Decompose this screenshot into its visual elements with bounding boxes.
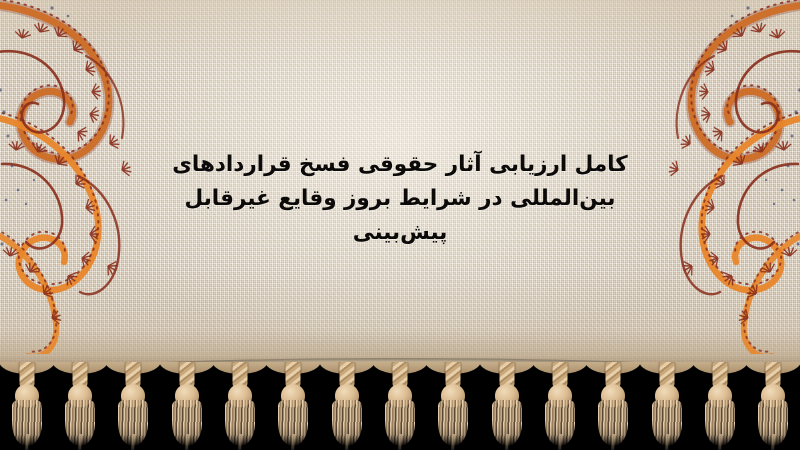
tassel-wisp <box>238 434 242 450</box>
title-line-3: پیش‌بینی <box>0 216 800 250</box>
title-line-2: بین‌المللی در شرایط بروز وقایع غیرقابل <box>0 182 800 216</box>
fringe-tassel <box>271 362 315 448</box>
fringe-tassel <box>325 362 369 448</box>
fringe-tassel <box>58 362 102 448</box>
tassel-wisp <box>664 434 668 450</box>
tassel-fringe <box>0 362 800 450</box>
fringe-tassel <box>485 362 529 448</box>
fringe-tassel <box>165 362 209 448</box>
tassel-wisp <box>184 434 188 450</box>
fringe-tassel <box>431 362 475 448</box>
fringe-tassel <box>538 362 582 448</box>
fringe-tassel <box>698 362 742 448</box>
tassel-wisp <box>24 434 28 450</box>
title-card: کامل ارزیابی آثار حقوقی فسخ قراردادهای ب… <box>0 0 800 450</box>
fringe-tassel <box>645 362 689 448</box>
fringe-tassel <box>5 362 49 448</box>
tassel-wisp <box>78 434 82 450</box>
tassel-wisp <box>718 434 722 450</box>
fringe-tassel <box>378 362 422 448</box>
tassel-wisp <box>344 434 348 450</box>
tassel-wisp <box>398 434 402 450</box>
fringe-tassel <box>591 362 635 448</box>
fringe-tassel <box>218 362 262 448</box>
fringe-tassel <box>751 362 795 448</box>
page-title: کامل ارزیابی آثار حقوقی فسخ قراردادهای ب… <box>0 148 800 250</box>
tassel-wisp <box>504 434 508 450</box>
fringe-tassel <box>111 362 155 448</box>
tassel-wisp <box>558 434 562 450</box>
title-line-1: کامل ارزیابی آثار حقوقی فسخ قراردادهای <box>0 148 800 182</box>
